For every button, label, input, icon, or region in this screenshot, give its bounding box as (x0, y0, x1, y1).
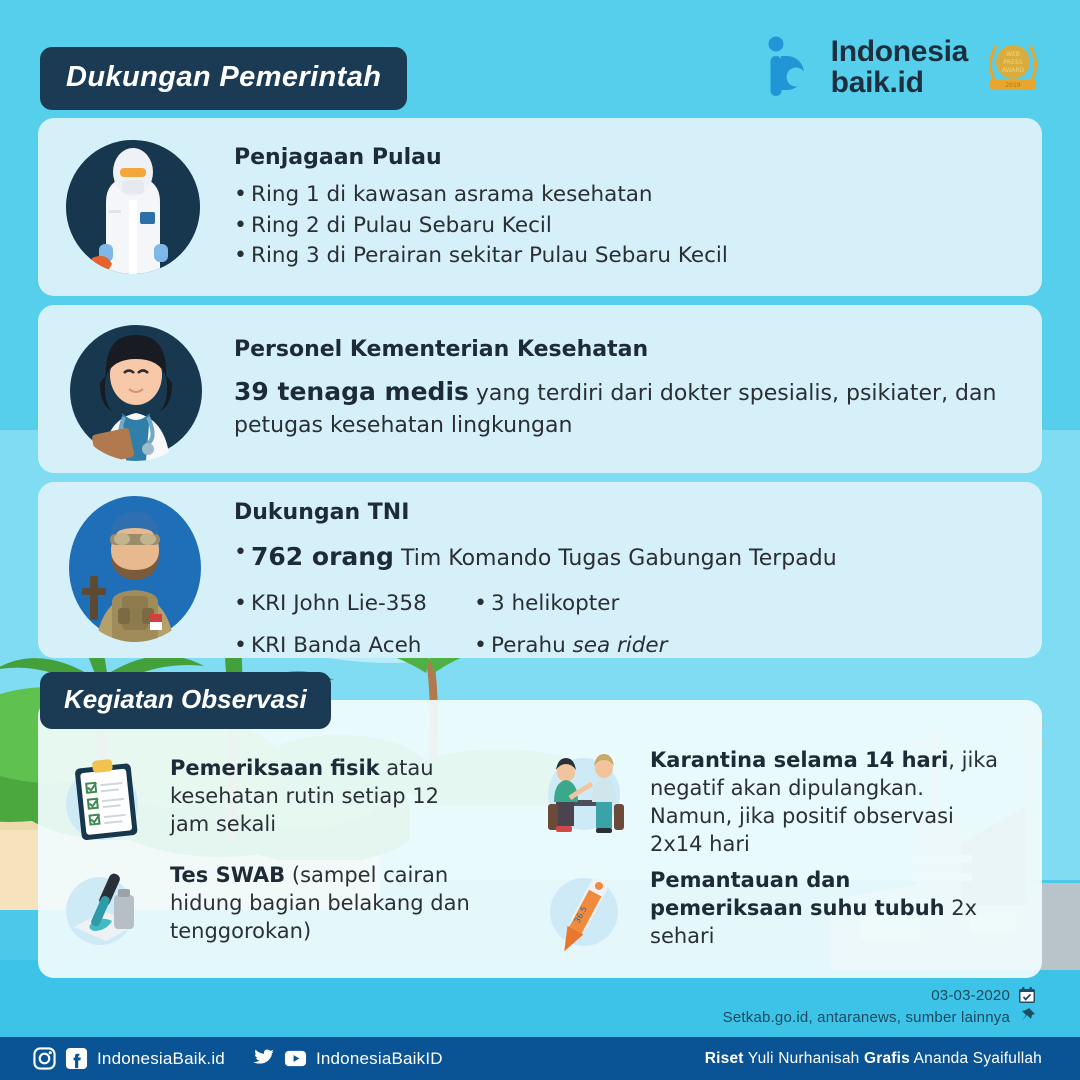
obs-item-karantina: Karantina selama 14 hari, jika negatif a… (532, 740, 1012, 859)
footer-bar: IndonesiaBaik.id IndonesiaBaikID Riset Y… (0, 1037, 1080, 1080)
list-item: KRI Banda Aceh (234, 631, 474, 662)
ib-logo-icon (765, 36, 821, 98)
obs-text: Pemeriksaan fisik atau kesehatan rutin s… (170, 748, 452, 838)
list-item: Ring 1 di kawasan asrama kesehatan (234, 180, 1024, 211)
card-dukungan-tni: Dukungan TNI •762 orang Tim Komando Tuga… (38, 482, 1042, 658)
infographic-canvas: Dukungan Pemerintah Indonesia baik.id WE… (0, 0, 1080, 1080)
clipboard-checklist-icon (52, 748, 156, 852)
list-item: Perahu sea rider (474, 631, 794, 662)
logo-line-2: baik.id (831, 67, 968, 98)
bullet-dot: • (234, 537, 247, 568)
pin-icon (1018, 1007, 1036, 1025)
card-title: Dukungan TNI (234, 500, 1054, 525)
obs-bold-4: Pemantauan dan pemeriksaan suhu tubuh (650, 868, 945, 920)
female-doctor-icon (66, 317, 206, 461)
card-personel-kemenkes: Personel Kementerian Kesehatan 39 tenaga… (38, 305, 1042, 473)
grafis-name: Ananda Syaifullah (914, 1050, 1042, 1067)
list-item: Ring 2 di Pulau Sebaru Kecil (234, 211, 1024, 242)
list-item: Ring 3 di Perairan sekitar Pulau Sebaru … (234, 241, 1024, 272)
credit-line: Riset Yuli Nurhanisah Grafis Ananda Syai… (705, 1050, 1042, 1068)
obs-bold-1: Pemeriksaan fisik (170, 756, 380, 780)
social-handle-2: IndonesiaBaikID (316, 1049, 443, 1069)
tni-asset-columns: KRI John Lie-358 KRI Banda Aceh 3 heliko… (234, 589, 1054, 662)
grafis-label: Grafis (864, 1050, 910, 1067)
kemenkes-description: 39 tenaga medis yang terdiri dari dokter… (234, 374, 1034, 441)
twitter-icon[interactable] (252, 1047, 275, 1070)
source-block: 03-03-2020 Setkab.go.id, antaranews, sum… (723, 986, 1036, 1026)
card-title: Personel Kementerian Kesehatan (234, 337, 1034, 362)
source-list-row: Setkab.go.id, antaranews, sumber lainnya (723, 1006, 1036, 1026)
obs-text: Pemantauan dan pemeriksaan suhu tubuh 2x… (650, 860, 992, 950)
riset-name: Yuli Nurhanisah (748, 1050, 860, 1067)
card-penjagaan-pulau: Penjagaan Pulau Ring 1 di kawasan asrama… (38, 118, 1042, 296)
tni-right-assets: 3 helikopter Perahu sea rider (474, 589, 794, 662)
tni-main-text: Tim Komando Tugas Gabungan Terpadu (394, 546, 837, 571)
sea-rider-italic: sea rider (573, 633, 668, 658)
hazmat-worker-icon (66, 140, 200, 274)
list-item: KRI John Lie-358 (234, 589, 474, 620)
brand-logo[interactable]: Indonesia baik.id WEBPRESSAWARD 2019 (765, 32, 1048, 102)
facebook-icon[interactable] (65, 1047, 88, 1070)
social-handle-1: IndonesiaBaik.id (97, 1049, 225, 1069)
svg-text:AWARD: AWARD (1002, 67, 1025, 74)
obs-bold-3: Tes SWAB (170, 863, 285, 887)
instagram-icon[interactable] (33, 1047, 56, 1070)
youtube-icon[interactable] (284, 1047, 307, 1070)
obs-bold-2: Karantina selama 14 hari (650, 748, 948, 772)
card-title: Penjagaan Pulau (234, 145, 1024, 170)
obs-text: Karantina selama 14 hari, jika negatif a… (650, 740, 1012, 859)
medis-count-highlight: 39 tenaga medis (234, 377, 469, 406)
svg-text:2019: 2019 (1005, 82, 1020, 89)
svg-text:WEB: WEB (1006, 51, 1020, 58)
riset-label: Riset (705, 1050, 744, 1067)
list-item: 3 helikopter (474, 589, 794, 620)
obs-item-suhu-tubuh: 36.5 Pemantauan dan pemeriksaan suhu tub… (532, 860, 992, 964)
thermometer-icon: 36.5 (532, 860, 636, 964)
calendar-icon (1018, 986, 1036, 1004)
publish-date: 03-03-2020 (931, 987, 1010, 1004)
tni-main-line: •762 orang Tim Komando Tugas Gabungan Te… (234, 539, 1054, 575)
obs-item-pemeriksaan-fisik: Pemeriksaan fisik atau kesehatan rutin s… (52, 748, 452, 852)
source-date-row: 03-03-2020 (723, 986, 1036, 1004)
logo-wordmark: Indonesia baik.id (831, 36, 968, 98)
penjagaan-bullet-list: Ring 1 di kawasan asrama kesehatan Ring … (234, 180, 1024, 272)
soldier-icon (66, 492, 204, 642)
obs-text: Tes SWAB (sampel cairan hidung bagian be… (170, 855, 502, 945)
swab-test-icon (52, 855, 156, 959)
logo-line-1: Indonesia (831, 36, 968, 67)
obs-item-tes-swab: Tes SWAB (sampel cairan hidung bagian be… (52, 855, 502, 959)
tni-count-highlight: 762 orang (251, 542, 394, 571)
svg-text:PRESS: PRESS (1003, 59, 1022, 66)
tni-left-assets: KRI John Lie-358 KRI Banda Aceh (234, 589, 474, 662)
award-badge-icon: WEBPRESSAWARD 2019 (978, 32, 1048, 102)
observasi-title-badge: Kegiatan Observasi (40, 672, 331, 729)
page-title-badge: Dukungan Pemerintah (40, 47, 407, 110)
source-list: Setkab.go.id, antaranews, sumber lainnya (723, 1009, 1010, 1026)
doctor-patient-icon (532, 740, 636, 844)
social-group-1[interactable]: IndonesiaBaik.id IndonesiaBaikID (33, 1047, 443, 1070)
